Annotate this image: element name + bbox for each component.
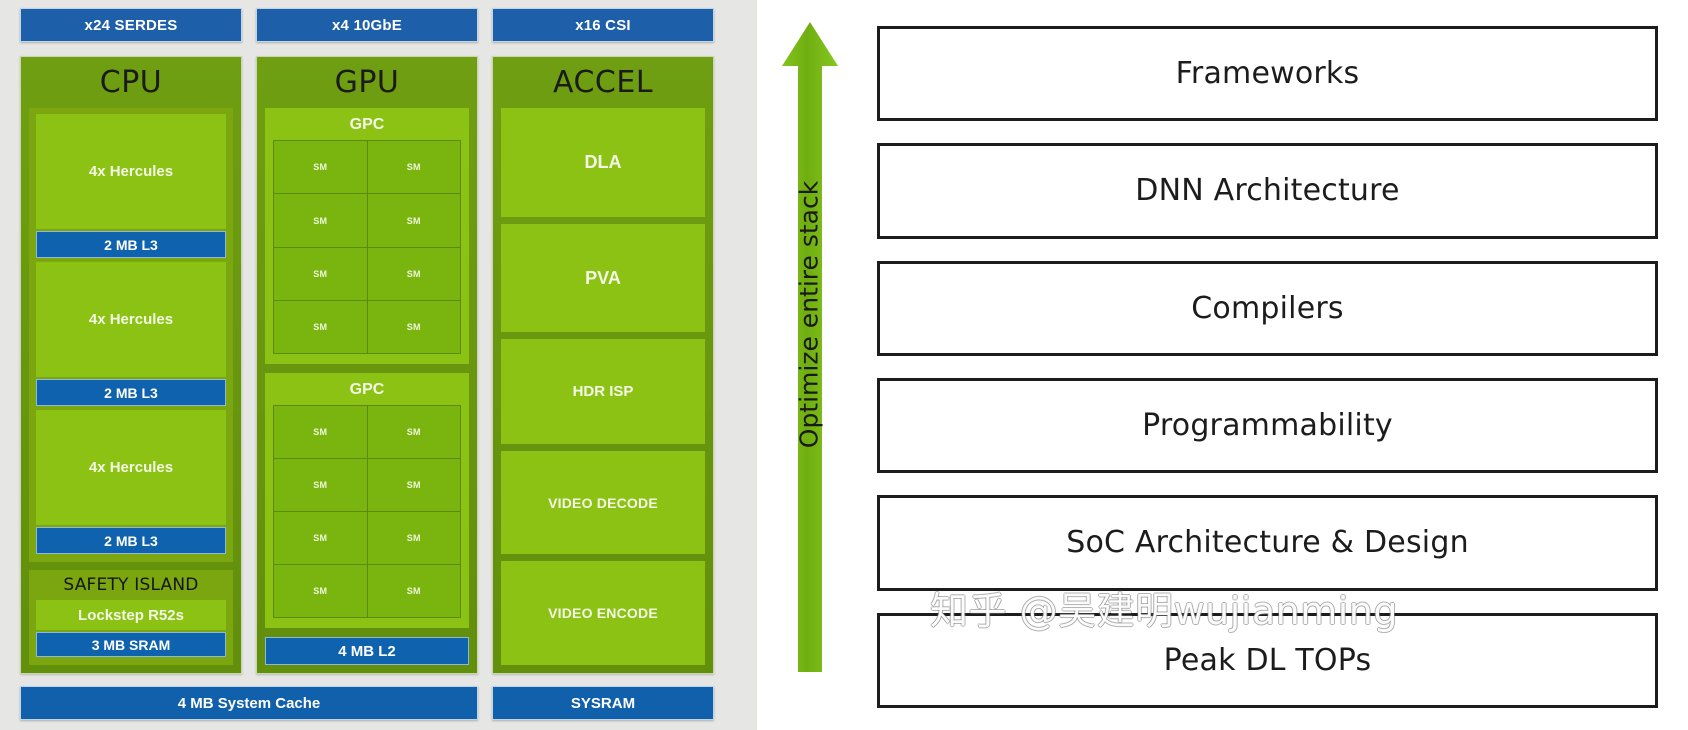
io-bar-csi: x16 CSI: [492, 8, 714, 42]
stack-layer-compilers: Compilers: [877, 261, 1658, 356]
gpc-label: GPC: [273, 377, 461, 405]
sm-cell: SM: [368, 248, 461, 300]
gpu-l2-cache: 4 MB L2: [265, 637, 469, 665]
sm-cell: SM: [274, 459, 367, 511]
system-cache-bar: 4 MB System Cache: [20, 686, 478, 720]
sm-cell: SM: [368, 301, 461, 353]
accel-engine-hdr-isp: HDR ISP: [501, 339, 705, 444]
stack-layer-label: Compilers: [1191, 291, 1343, 326]
cpu-l3-cache: 2 MB L3: [36, 379, 226, 406]
cpu-column: CPU 4x Hercules 2 MB L3 4x Hercules 2 MB…: [20, 56, 242, 674]
safety-island-block: SAFETY ISLAND Lockstep R52s 3 MB SRAM: [29, 570, 233, 665]
accel-title: ACCEL: [501, 65, 705, 100]
stack-layer-frameworks: Frameworks: [877, 26, 1658, 121]
sm-cell: SM: [274, 248, 367, 300]
cpu-cores-label: 4x Hercules: [36, 410, 226, 525]
stack-layer-peak-dl-tops: Peak DL TOPs: [877, 613, 1658, 708]
stack-layer-list: Frameworks DNN Architecture Compilers Pr…: [877, 0, 1688, 730]
safety-island-title: SAFETY ISLAND: [36, 575, 226, 595]
sm-cell: SM: [274, 512, 367, 564]
sm-cell: SM: [274, 565, 367, 617]
sm-cell: SM: [368, 194, 461, 246]
soc-columns: CPU 4x Hercules 2 MB L3 4x Hercules 2 MB…: [20, 56, 743, 674]
optimize-arrow-area: Optimize entire stack: [757, 0, 877, 730]
cpu-l3-cache: 2 MB L3: [36, 231, 226, 258]
gpu-title: GPU: [265, 65, 469, 100]
cpu-l3-cache: 2 MB L3: [36, 527, 226, 554]
sm-cell: SM: [368, 141, 461, 193]
gpc-label: GPC: [273, 112, 461, 140]
stack-layer-label: DNN Architecture: [1135, 173, 1399, 208]
stack-layer-dnn-architecture: DNN Architecture: [877, 143, 1658, 238]
accel-column: ACCEL DLA PVA HDR ISP VIDEO DECODE VIDEO…: [492, 56, 714, 674]
cpu-title: CPU: [29, 65, 233, 100]
sm-cell: SM: [368, 459, 461, 511]
cpu-cores-label: 4x Hercules: [36, 114, 226, 229]
sm-cell: SM: [368, 512, 461, 564]
io-interface-row: x24 SERDES x4 10GbE x16 CSI: [20, 8, 743, 42]
gpc-block: GPC SM SM SM SM SM SM SM SM: [265, 373, 469, 628]
io-bar-serdes: x24 SERDES: [20, 8, 242, 42]
sm-cell: SM: [274, 301, 367, 353]
cpu-cores-label: 4x Hercules: [36, 262, 226, 377]
accel-engine-dla: DLA: [501, 108, 705, 217]
cpu-cluster: 4x Hercules 2 MB L3: [36, 410, 226, 554]
lockstep-cores-label: Lockstep R52s: [36, 600, 226, 630]
stack-layer-label: Frameworks: [1176, 56, 1360, 91]
sm-cell: SM: [274, 406, 367, 458]
accel-engine-list: DLA PVA HDR ISP VIDEO DECODE VIDEO ENCOD…: [501, 108, 705, 665]
software-stack-panel: Optimize entire stack Frameworks DNN Arc…: [757, 0, 1688, 730]
cpu-cluster: 4x Hercules 2 MB L3: [36, 262, 226, 406]
stack-layer-label: SoC Architecture & Design: [1066, 525, 1469, 560]
soc-block-diagram: x24 SERDES x4 10GbE x16 CSI CPU 4x Hercu…: [0, 0, 757, 730]
sm-grid: SM SM SM SM SM SM SM SM: [273, 405, 461, 618]
stack-layer-programmability: Programmability: [877, 378, 1658, 473]
sm-cell: SM: [274, 194, 367, 246]
accel-engine-video-decode: VIDEO DECODE: [501, 451, 705, 555]
cpu-core-group: 4x Hercules 2 MB L3 4x Hercules 2 MB L3 …: [29, 108, 233, 562]
figure-root: x24 SERDES x4 10GbE x16 CSI CPU 4x Hercu…: [0, 0, 1688, 730]
sm-cell: SM: [368, 406, 461, 458]
sm-cell: SM: [368, 565, 461, 617]
io-bar-ethernet: x4 10GbE: [256, 8, 478, 42]
sm-grid: SM SM SM SM SM SM SM SM: [273, 140, 461, 353]
stack-layer-soc-architecture: SoC Architecture & Design: [877, 495, 1658, 590]
accel-engine-pva: PVA: [501, 224, 705, 333]
stack-layer-label: Programmability: [1142, 408, 1393, 443]
gpu-column: GPU GPC SM SM SM SM SM SM SM SM G: [256, 56, 478, 674]
memory-row: 4 MB System Cache SYSRAM: [20, 686, 743, 720]
sysram-bar: SYSRAM: [492, 686, 714, 720]
safety-island-sram: 3 MB SRAM: [36, 632, 226, 657]
cpu-cluster: 4x Hercules 2 MB L3: [36, 114, 226, 258]
stack-layer-label: Peak DL TOPs: [1164, 643, 1372, 678]
sm-cell: SM: [274, 141, 367, 193]
gpc-block: GPC SM SM SM SM SM SM SM SM: [265, 108, 469, 363]
optimize-entire-stack-label: Optimize entire stack: [795, 145, 824, 485]
accel-engine-video-encode: VIDEO ENCODE: [501, 561, 705, 665]
